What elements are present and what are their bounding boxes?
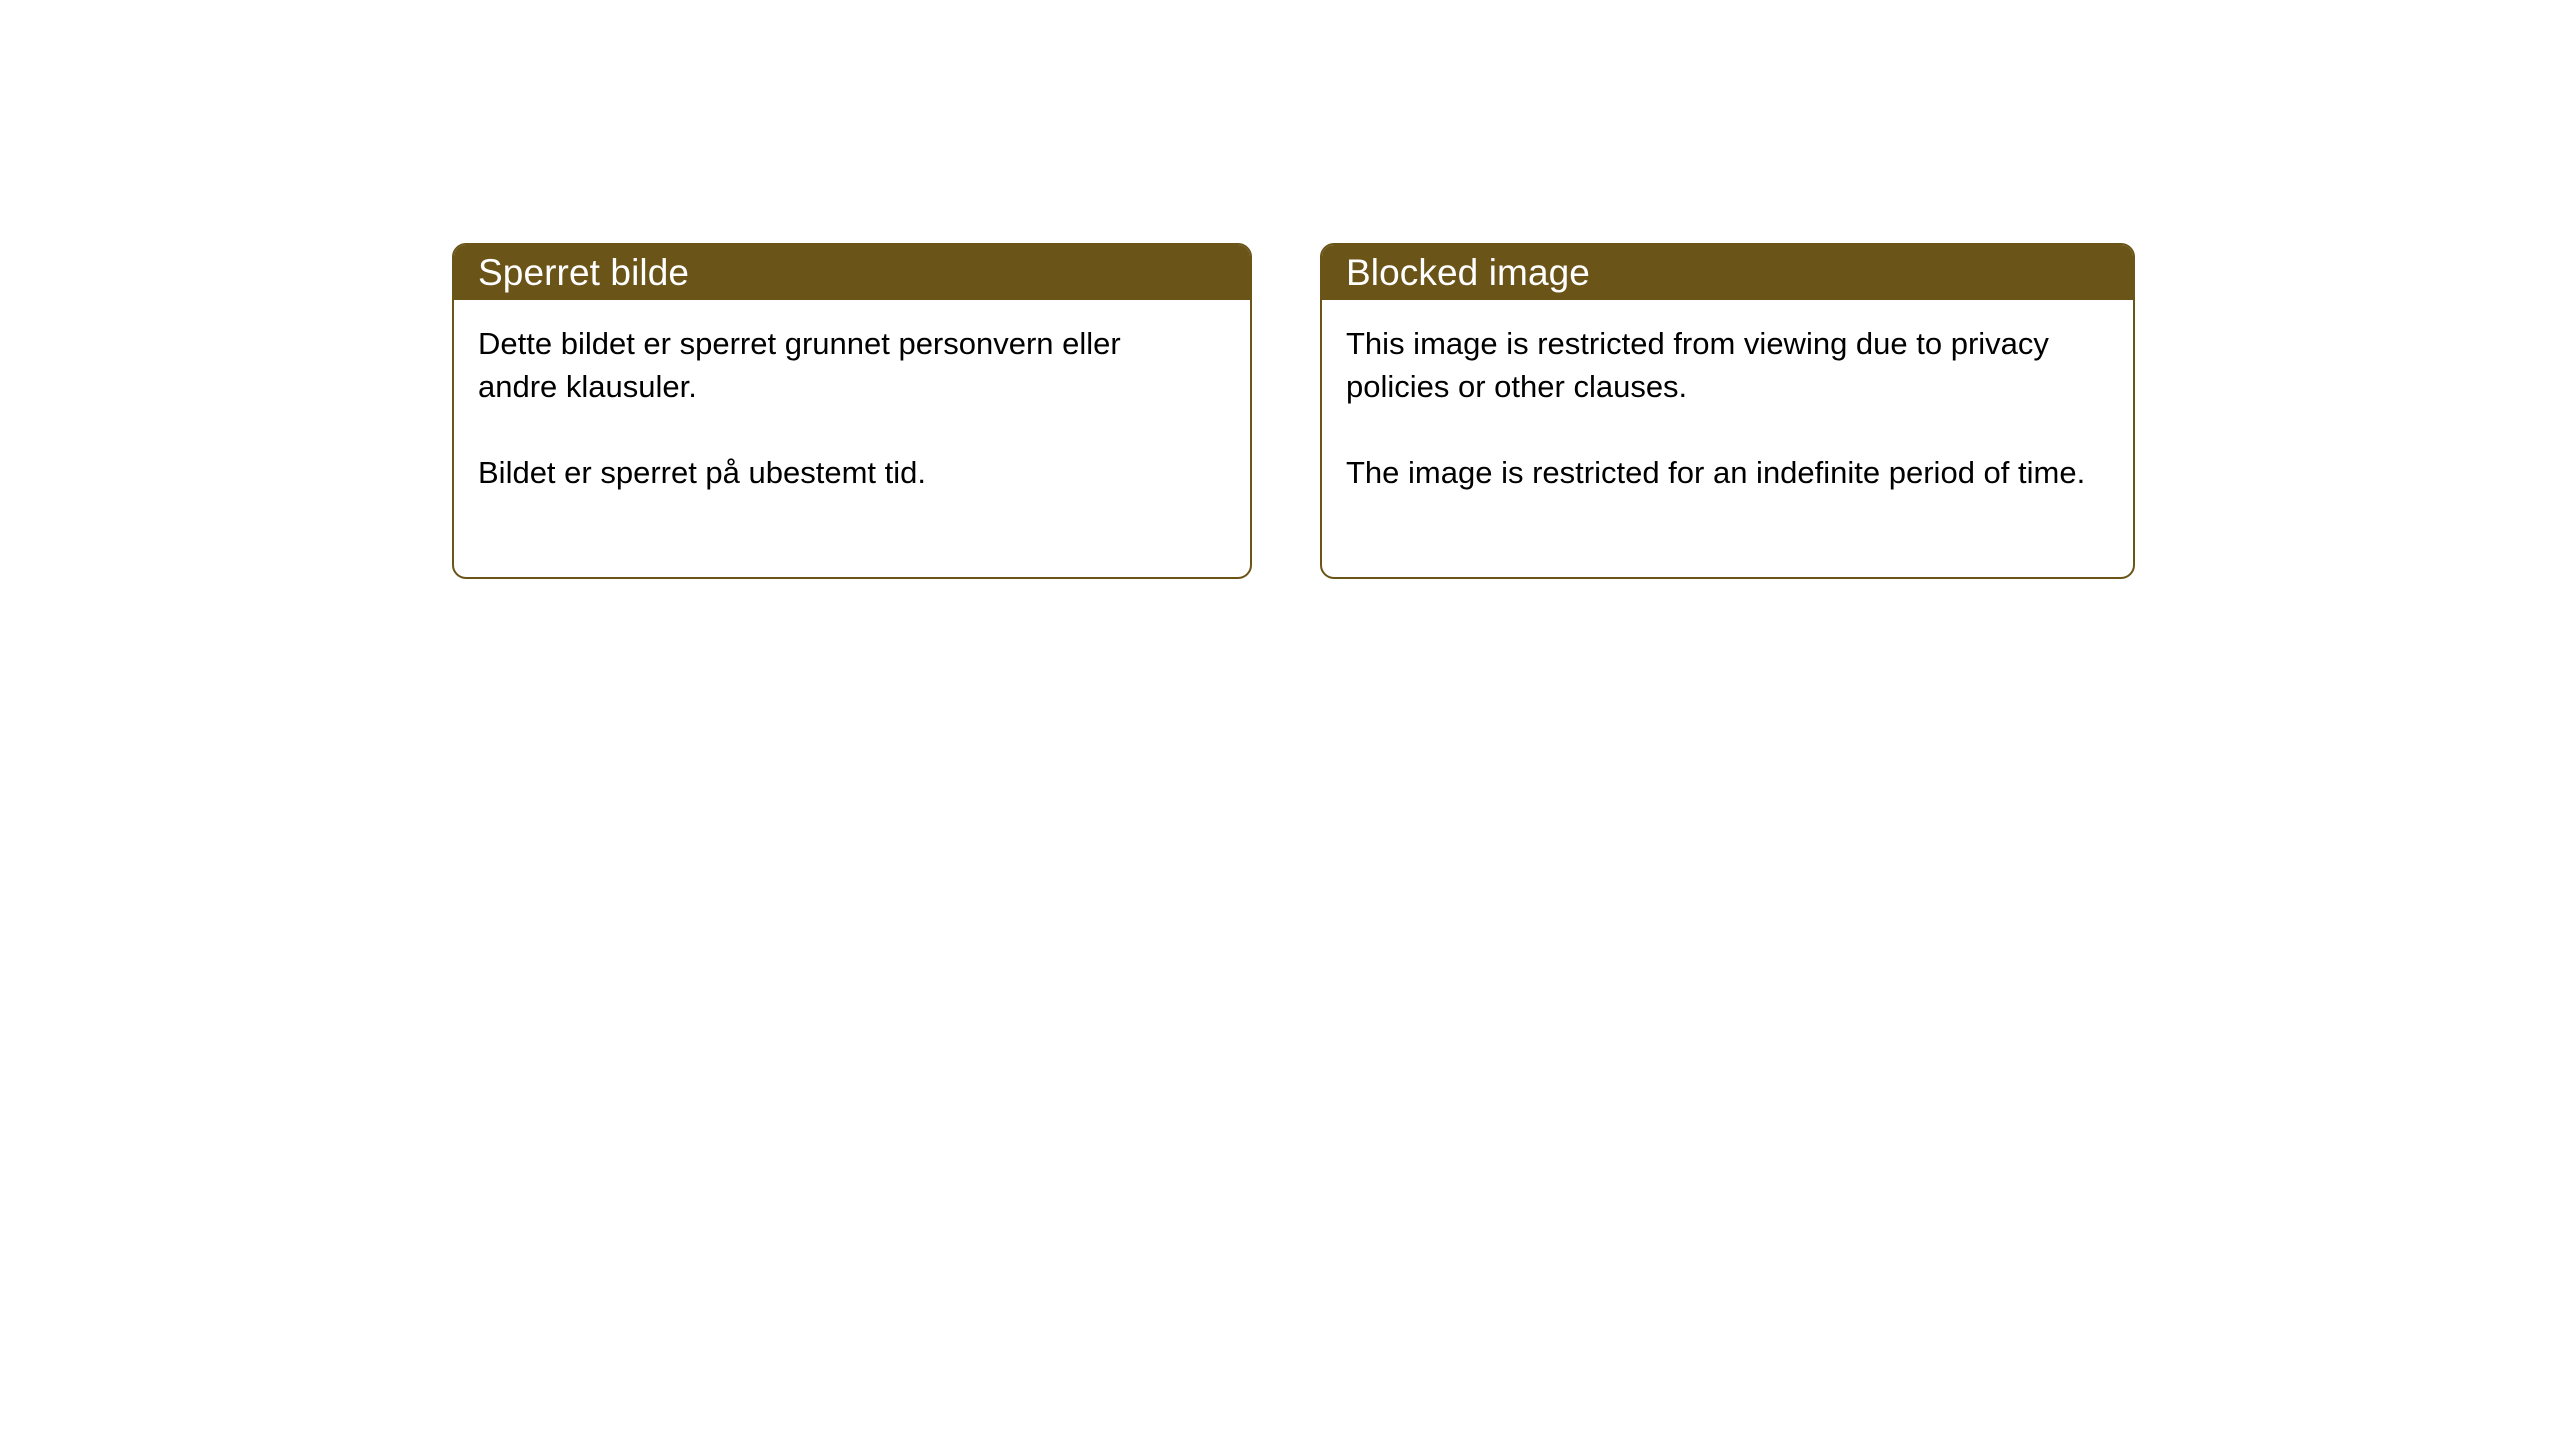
card-header-english: Blocked image (1322, 245, 2133, 300)
card-body-norwegian: Dette bildet er sperret grunnet personve… (454, 300, 1250, 494)
blocked-image-notice-norwegian: Sperret bilde Dette bildet er sperret gr… (452, 243, 1252, 579)
card-title-norwegian: Sperret bilde (478, 253, 689, 293)
card-body-english: This image is restricted from viewing du… (1322, 300, 2133, 494)
card-title-english: Blocked image (1346, 253, 1590, 293)
card-paragraph: The image is restricted for an indefinit… (1346, 451, 2106, 494)
card-paragraph: Bildet er sperret på ubestemt tid. (478, 451, 1208, 494)
blocked-image-notice-english: Blocked image This image is restricted f… (1320, 243, 2135, 579)
card-paragraph: This image is restricted from viewing du… (1346, 322, 2106, 408)
card-header-norwegian: Sperret bilde (454, 245, 1250, 300)
page-canvas: Sperret bilde Dette bildet er sperret gr… (0, 0, 2560, 1440)
card-paragraph: Dette bildet er sperret grunnet personve… (478, 322, 1208, 408)
